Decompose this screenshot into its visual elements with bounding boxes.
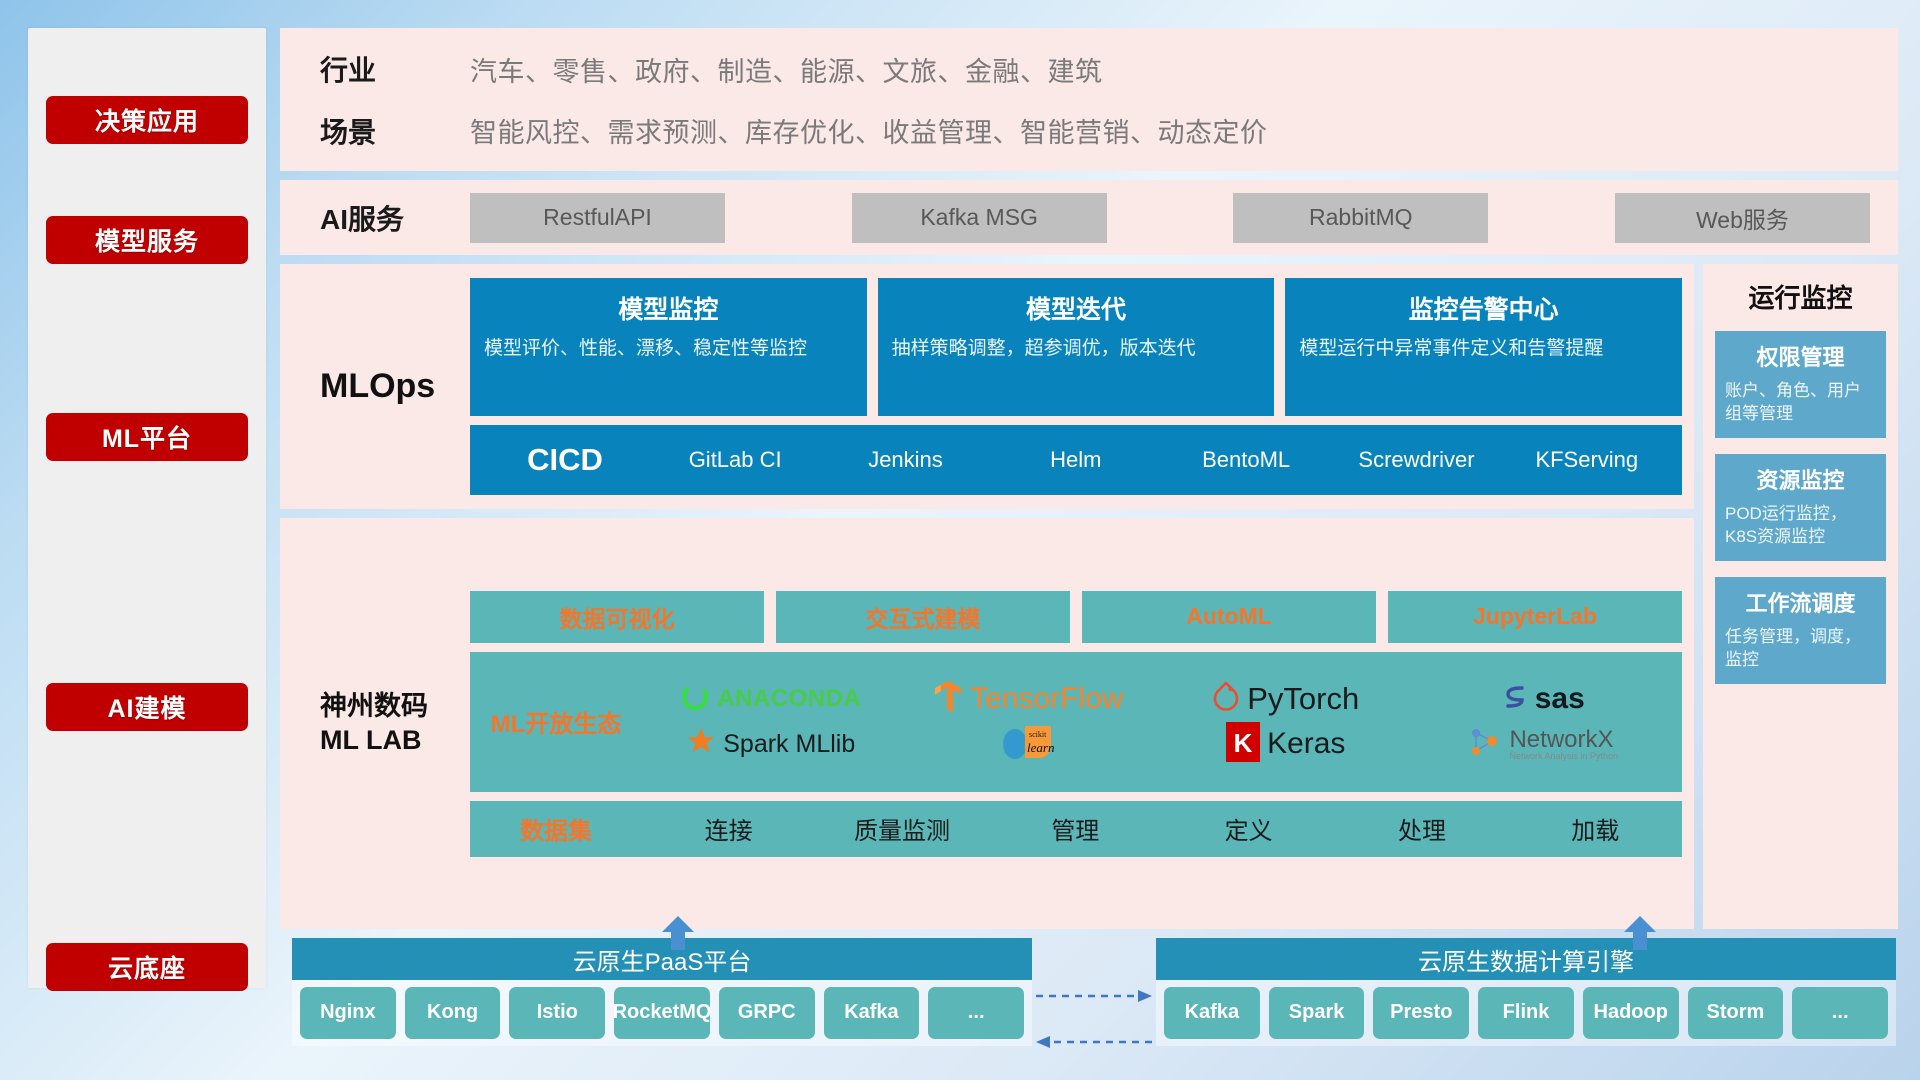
diagram-root: 决策应用 模型服务 ML平台 AI建模 云底座 行业 场景 汽车、零售、政府、制… (0, 0, 1920, 1080)
logo-pytorch: PyTorch (1212, 681, 1359, 718)
cloud-base-section: 云原生PaaS平台 Nginx Kong Istio RocketMQ GRPC… (280, 938, 1898, 1066)
dataset-item-connect[interactable]: 连接 (642, 811, 815, 846)
card-title: 监控告警中心 (1299, 290, 1668, 326)
mlops-card-list: 模型监控 模型评价、性能、漂移、稳定性等监控 模型迭代 抽样策略调整，超参调优，… (470, 278, 1682, 416)
ml-ecosystem-row: ML开放生态 ANACONDA (470, 652, 1682, 792)
cloud-compute-title: 云原生数据计算引擎 (1156, 938, 1896, 980)
paas-chip-kong[interactable]: Kong (405, 987, 501, 1039)
cloud-paas-chips: Nginx Kong Istio RocketMQ GRPC Kafka ... (292, 980, 1032, 1046)
cicd-item-kfserving[interactable]: KFServing (1502, 448, 1672, 471)
logo-spark-mllib: Spark MLlib (686, 727, 855, 762)
pytorch-icon (1212, 681, 1240, 718)
rail-label: 决策应用 (95, 102, 199, 138)
mlops-card-model-iteration[interactable]: 模型迭代 抽样策略调整，超参调优，版本迭代 (878, 278, 1275, 416)
card-title: 模型监控 (484, 290, 853, 326)
mlops-content: 模型监控 模型评价、性能、漂移、稳定性等监控 模型迭代 抽样策略调整，超参调优，… (470, 278, 1694, 495)
spark-icon (686, 727, 716, 762)
cloud-compute-chips: Kafka Spark Presto Flink Hadoop Storm ..… (1156, 980, 1896, 1046)
ai-service-items: RestfulAPI Kafka MSG RabbitMQ Web服务 (470, 193, 1898, 243)
cicd-item-gitlab-ci[interactable]: GitLab CI (650, 448, 820, 471)
logo-sas: sas (1502, 682, 1585, 717)
tool-chip-data-visualization[interactable]: 数据可视化 (470, 591, 764, 643)
dataset-item-manage[interactable]: 管理 (989, 811, 1162, 846)
paas-chip-kafka[interactable]: Kafka (824, 987, 920, 1039)
logo-label: NetworkX (1509, 728, 1618, 752)
logo-label: Spark MLlib (723, 730, 855, 759)
compute-chip-kafka[interactable]: Kafka (1164, 987, 1260, 1039)
ai-service-label: AI服务 (320, 198, 470, 238)
up-arrow-right-icon (1620, 916, 1660, 950)
rail-item-model-service[interactable]: 模型服务 (46, 216, 248, 264)
cicd-item-helm[interactable]: Helm (991, 448, 1161, 471)
compute-chip-spark[interactable]: Spark (1269, 987, 1365, 1039)
svg-text:scikit: scikit (1029, 730, 1047, 739)
logo-tensorflow: TensorFlow (933, 679, 1123, 720)
runtime-monitoring-title: 运行监控 (1715, 278, 1886, 315)
dataset-item-define[interactable]: 定义 (1162, 811, 1335, 846)
scikit-learn-icon: scikitlearn (999, 722, 1057, 767)
mlops-band: MLOps 模型监控 模型评价、性能、漂移、稳定性等监控 模型迭代 抽样策略调整… (280, 264, 1694, 509)
dataset-item-load[interactable]: 加载 (1509, 811, 1682, 846)
runtime-monitoring-panel: 运行监控 权限管理 账户、角色、用户组等管理 资源监控 POD运行监控，K8S资… (1703, 264, 1898, 929)
layer-rail: 决策应用 模型服务 ML平台 AI建模 云底座 (28, 28, 266, 988)
rail-item-decision-apps[interactable]: 决策应用 (46, 96, 248, 144)
tool-chip-jupyterlab[interactable]: JupyterLab (1388, 591, 1682, 643)
sas-icon (1502, 682, 1528, 717)
cicd-item-bentoml[interactable]: BentoML (1161, 448, 1331, 471)
dataset-item-process[interactable]: 处理 (1335, 811, 1508, 846)
ml-lab-line1: 神州数码 (320, 690, 470, 724)
service-chip-rabbitmq[interactable]: RabbitMQ (1233, 193, 1488, 243)
networkx-labels: NetworkX Network Analysis in Python (1509, 728, 1618, 761)
dataset-row: 数据集 连接 质量监测 管理 定义 处理 加载 (470, 801, 1682, 857)
scenario-label: 场景 (320, 111, 470, 151)
tool-chip-row: 数据可视化 交互式建模 AutoML JupyterLab (470, 591, 1682, 643)
compute-chip-hadoop[interactable]: Hadoop (1583, 987, 1679, 1039)
card-desc: 模型评价、性能、漂移、稳定性等监控 (484, 336, 853, 363)
card-title: 资源监控 (1725, 463, 1876, 495)
bidirectional-link-icon (1032, 982, 1156, 1056)
card-title: 模型迭代 (892, 290, 1261, 326)
cicd-item-list: GitLab CI Jenkins Helm BentoML Screwdriv… (650, 448, 1672, 471)
service-chip-restfulapi[interactable]: RestfulAPI (470, 193, 725, 243)
service-chip-web[interactable]: Web服务 (1615, 193, 1870, 243)
paas-chip-rocketmq[interactable]: RocketMQ (614, 987, 710, 1039)
svg-text:K: K (1234, 728, 1253, 758)
card-desc: 账户、角色、用户组等管理 (1725, 379, 1876, 426)
middle-area: MLOps 模型监控 模型评价、性能、漂移、稳定性等监控 模型迭代 抽样策略调整… (280, 264, 1898, 929)
ml-ecosystem-logos: ANACONDA TensorFlow (642, 677, 1672, 767)
logo-label: PyTorch (1247, 681, 1359, 717)
decision-apps-band: 行业 场景 汽车、零售、政府、制造、能源、文旅、金融、建筑 智能风控、需求预测、… (280, 28, 1898, 171)
main-column: 行业 场景 汽车、零售、政府、制造、能源、文旅、金融、建筑 智能风控、需求预测、… (280, 28, 1898, 1066)
keras-icon: K (1226, 722, 1260, 767)
apps-label-group: 行业 场景 (320, 49, 470, 151)
rail-item-ml-platform[interactable]: ML平台 (46, 413, 248, 461)
logo-label: ANACONDA (717, 685, 861, 713)
logo-label: sas (1535, 682, 1585, 716)
tool-chip-interactive-modeling[interactable]: 交互式建模 (776, 591, 1070, 643)
apps-value-group: 汽车、零售、政府、制造、能源、文旅、金融、建筑 智能风控、需求预测、库存优化、收… (470, 50, 1268, 150)
card-desc: 任务管理，调度，监控 (1725, 625, 1876, 672)
card-title: 工作流调度 (1725, 586, 1876, 618)
cicd-item-screwdriver[interactable]: Screwdriver (1331, 448, 1501, 471)
logo-anaconda: ANACONDA (680, 682, 861, 717)
compute-chip-storm[interactable]: Storm (1688, 987, 1784, 1039)
middle-left: MLOps 模型监控 模型评价、性能、漂移、稳定性等监控 模型迭代 抽样策略调整… (280, 264, 1694, 929)
rail-label: AI建模 (107, 689, 186, 725)
dataset-title: 数据集 (470, 811, 642, 846)
networkx-icon (1468, 725, 1502, 764)
industry-label: 行业 (320, 49, 470, 89)
logo-networkx: NetworkX Network Analysis in Python (1468, 725, 1618, 764)
monitor-card-permission[interactable]: 权限管理 账户、角色、用户组等管理 (1715, 331, 1886, 438)
cicd-row: CICD GitLab CI Jenkins Helm BentoML Scre… (470, 425, 1682, 495)
rail-item-ai-modeling[interactable]: AI建模 (46, 683, 248, 731)
monitor-card-resource[interactable]: 资源监控 POD运行监控，K8S资源监控 (1715, 454, 1886, 561)
card-desc: 模型运行中异常事件定义和告警提醒 (1299, 336, 1668, 363)
ml-lab-line2: ML LAB (320, 724, 470, 758)
compute-chip-flink[interactable]: Flink (1478, 987, 1574, 1039)
rail-label: ML平台 (102, 419, 192, 455)
compute-chip-presto[interactable]: Presto (1373, 987, 1469, 1039)
card-desc: POD运行监控，K8S资源监控 (1725, 502, 1876, 549)
cicd-title: CICD (480, 442, 650, 478)
logo-keras: K Keras (1226, 722, 1345, 767)
logo-scikit-learn: scikitlearn (999, 722, 1057, 767)
rail-label: 云底座 (108, 949, 186, 985)
monitor-card-workflow[interactable]: 工作流调度 任务管理，调度，监控 (1715, 577, 1886, 684)
networkx-tagline: Network Analysis in Python (1509, 752, 1618, 761)
ai-modeling-band: 神州数码 ML LAB 数据可视化 交互式建模 AutoML JupyterLa… (280, 518, 1694, 929)
mlops-card-alert-center[interactable]: 监控告警中心 模型运行中异常事件定义和告警提醒 (1285, 278, 1682, 416)
anaconda-icon (680, 682, 710, 717)
industry-value: 汽车、零售、政府、制造、能源、文旅、金融、建筑 (470, 50, 1268, 89)
ml-ecosystem-title: ML开放生态 (470, 704, 642, 739)
paas-chip-more[interactable]: ... (928, 987, 1024, 1039)
scenario-value: 智能风控、需求预测、库存优化、收益管理、智能营销、动态定价 (470, 111, 1268, 150)
logo-label: Keras (1267, 727, 1345, 761)
card-title: 权限管理 (1725, 340, 1876, 372)
paas-chip-grpc[interactable]: GRPC (719, 987, 815, 1039)
cicd-item-jenkins[interactable]: Jenkins (820, 448, 990, 471)
logo-label: TensorFlow (970, 682, 1123, 716)
compute-chip-more[interactable]: ... (1792, 987, 1888, 1039)
svg-text:learn: learn (1027, 740, 1054, 755)
dataset-item-list: 连接 质量监测 管理 定义 处理 加载 (642, 811, 1682, 846)
rail-item-cloud-base[interactable]: 云底座 (46, 943, 248, 991)
tool-chip-automl[interactable]: AutoML (1082, 591, 1376, 643)
up-arrow-left-icon (658, 916, 698, 950)
rail-label: 模型服务 (95, 222, 199, 258)
service-chip-kafka-msg[interactable]: Kafka MSG (852, 193, 1107, 243)
cloud-paas-column: 云原生PaaS平台 Nginx Kong Istio RocketMQ GRPC… (292, 938, 1032, 1066)
ai-modeling-content: 数据可视化 交互式建模 AutoML JupyterLab ML开放生态 (470, 591, 1694, 857)
mlops-card-model-monitoring[interactable]: 模型监控 模型评价、性能、漂移、稳定性等监控 (470, 278, 867, 416)
mlops-label: MLOps (320, 367, 470, 406)
ml-lab-label: 神州数码 ML LAB (320, 690, 470, 758)
paas-chip-nginx[interactable]: Nginx (300, 987, 396, 1039)
tensorflow-icon (933, 679, 963, 720)
cloud-compute-column: 云原生数据计算引擎 Kafka Spark Presto Flink Hadoo… (1156, 938, 1896, 1066)
card-desc: 抽样策略调整，超参调优，版本迭代 (892, 336, 1261, 363)
ai-service-band: AI服务 RestfulAPI Kafka MSG RabbitMQ Web服务 (280, 180, 1898, 255)
dataset-item-quality[interactable]: 质量监测 (815, 811, 988, 846)
paas-chip-istio[interactable]: Istio (509, 987, 605, 1039)
